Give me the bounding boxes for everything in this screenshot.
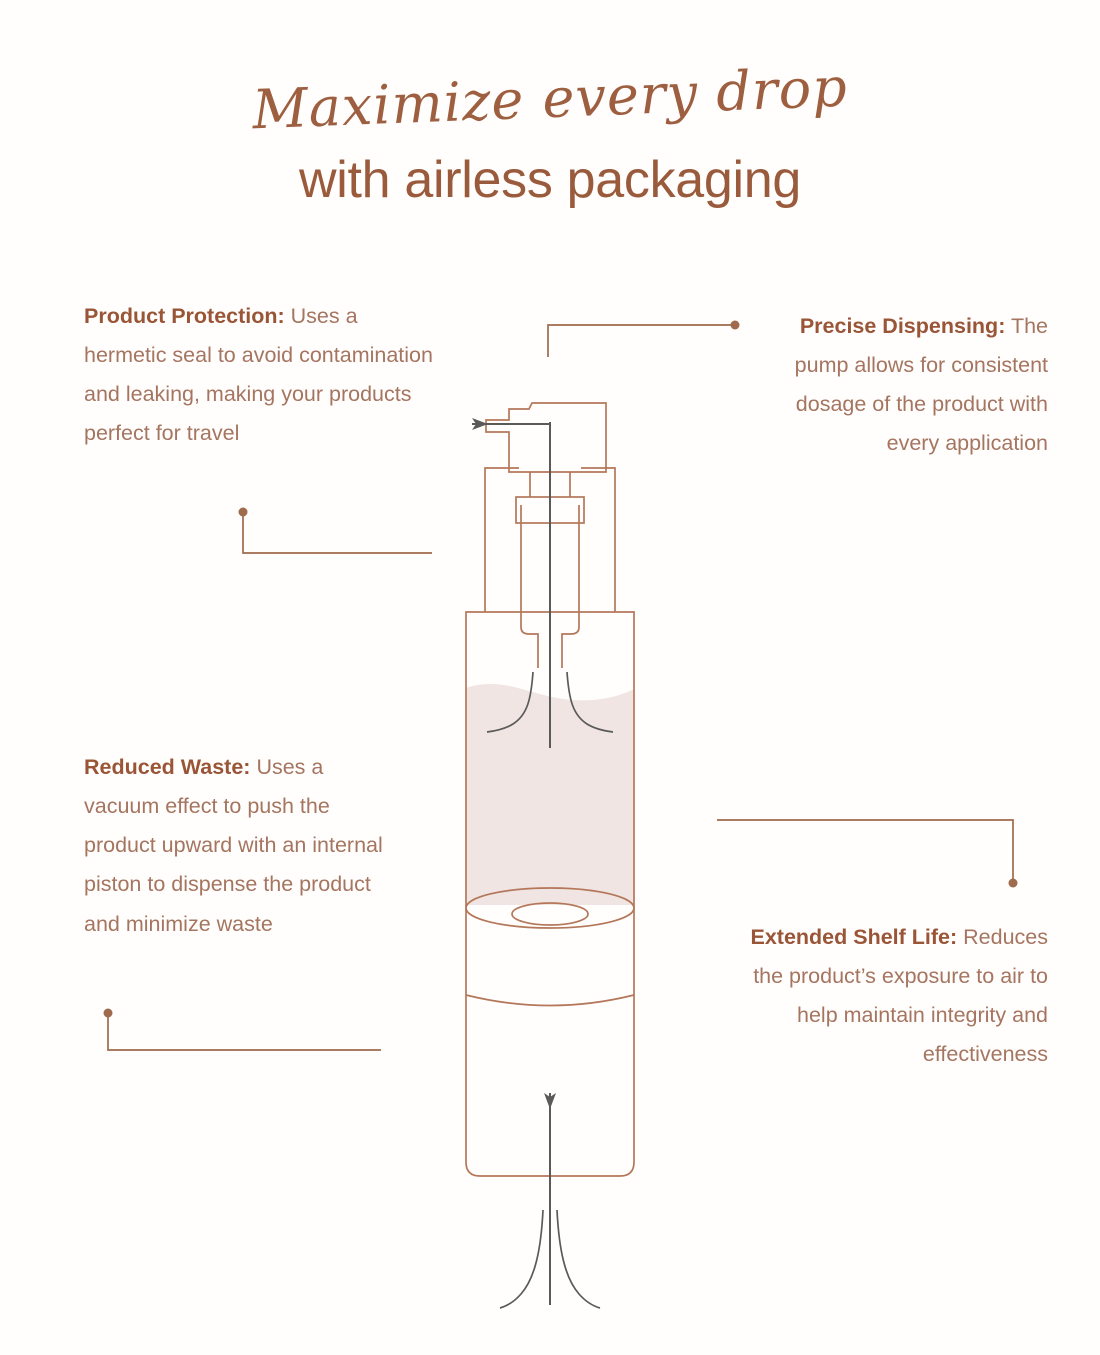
connector-product-protection — [239, 508, 433, 554]
product-liquid-fill — [460, 684, 640, 905]
connector-reduced-waste — [104, 1009, 382, 1051]
pump-chamber-left — [521, 505, 538, 668]
callout-precise-dispensing: Precise Dispensing: The pump allows for … — [748, 307, 1048, 464]
callout-extended-shelf-life: Extended Shelf Life: Reduces the product… — [748, 918, 1048, 1075]
bottle-neck-left — [485, 468, 519, 612]
callout-lead-reduced-waste: Reduced Waste: — [84, 755, 250, 779]
connector-precise-dispensing — [548, 321, 740, 358]
pump-actuator-head — [486, 403, 606, 472]
internal-piston-bottom-edge — [466, 995, 634, 1006]
callout-reduced-waste: Reduced Waste: Uses a vacuum effect to p… — [84, 748, 404, 944]
bottle-body-outline — [466, 612, 634, 1176]
internal-piston-top — [466, 888, 634, 928]
connector-extended-shelf-life — [717, 820, 1018, 888]
title-script-line: Maximize every drop — [0, 51, 1100, 147]
upper-flow-curve-right — [567, 672, 613, 732]
infographic-root: Maximize every drop with airless packagi… — [0, 0, 1100, 1355]
callout-lead-precise-dispensing: Precise Dispensing: — [800, 314, 1006, 338]
page-title: with airless packaging — [0, 152, 1100, 209]
callout-product-protection: Product Protection: Uses a hermetic seal… — [84, 297, 436, 454]
lower-flow-curve-left — [500, 1210, 543, 1308]
internal-piston-inner-ring — [512, 903, 588, 925]
pump-chamber-collar — [516, 497, 584, 523]
bottle-neck-right — [581, 468, 615, 612]
callout-lead-extended-shelf-life: Extended Shelf Life: — [750, 925, 957, 949]
callout-body-reduced-waste: Uses a vacuum effect to push the product… — [84, 755, 383, 936]
upper-flow-curve-left — [487, 672, 533, 732]
lower-flow-curve-right — [557, 1210, 600, 1308]
callout-lead-product-protection: Product Protection: — [84, 304, 285, 328]
pump-chamber-right — [562, 505, 579, 668]
